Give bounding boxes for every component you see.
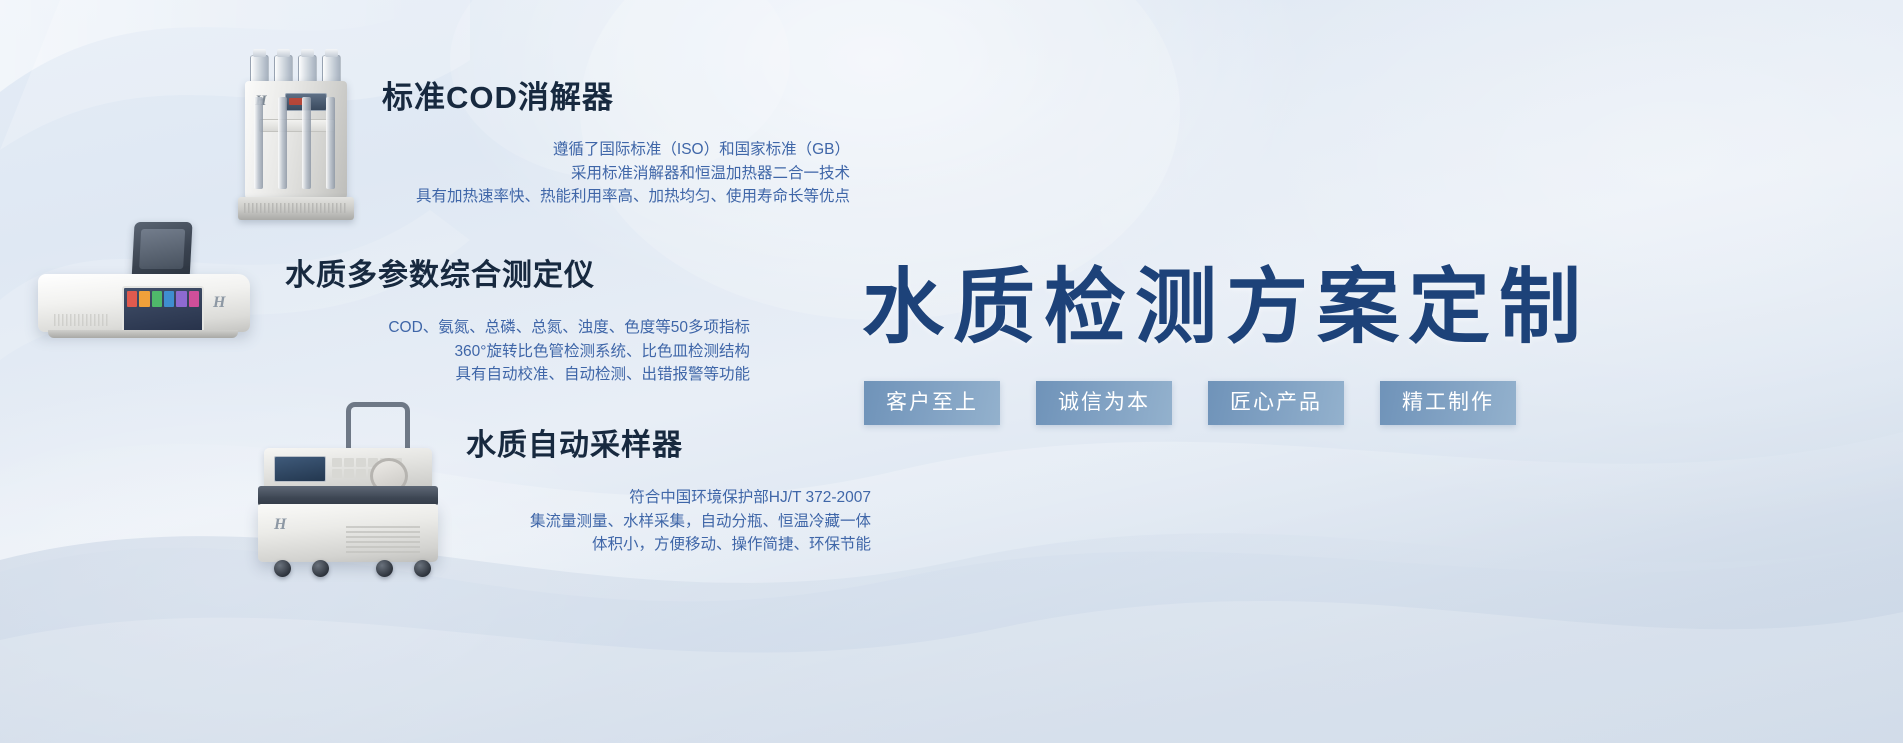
product-title: 水质多参数综合测定仪 bbox=[285, 250, 750, 294]
tag-list: 客户至上 诚信为本 匠心产品 精工制作 bbox=[864, 381, 1516, 425]
multiparameter-analyzer-photo: H bbox=[30, 222, 262, 344]
tag-fine-manufacturing[interactable]: 精工制作 bbox=[1380, 381, 1516, 425]
product-description-line: 符合中国环境保护部HJ/T 372-2007 bbox=[466, 486, 871, 510]
product-description-line: 集流量测量、水样采集，自动分瓶、恒温冷藏一体 bbox=[466, 510, 871, 534]
cod-digester-photo: H bbox=[228, 45, 362, 220]
product-block-auto-sampler: 水质自动采样器 符合中国环境保护部HJ/T 372-2007 集流量测量、水样采… bbox=[466, 420, 871, 557]
product-description-line: 具有加热速率快、热能利用率高、加热均匀、使用寿命长等优点 bbox=[382, 185, 850, 209]
sampler-display-icon bbox=[274, 456, 326, 482]
brand-mark-icon: H bbox=[213, 294, 225, 312]
auto-sampler-photo: H bbox=[250, 400, 450, 580]
product-title: 水质自动采样器 bbox=[466, 420, 871, 464]
product-description-line: 360°旋转比色管检测系统、比色皿检测结构 bbox=[285, 340, 750, 364]
tag-craftsmanship[interactable]: 匠心产品 bbox=[1208, 381, 1344, 425]
product-description: COD、氨氮、总磷、总氮、浊度、色度等50多项指标 360°旋转比色管检测系统、… bbox=[285, 316, 750, 387]
product-description-line: COD、氨氮、总磷、总氮、浊度、色度等50多项指标 bbox=[285, 316, 750, 340]
banner-headline: 水质检测方案定制 bbox=[862, 240, 1872, 359]
product-description: 符合中国环境保护部HJ/T 372-2007 集流量测量、水样采集，自动分瓶、恒… bbox=[466, 486, 871, 557]
tag-integrity[interactable]: 诚信为本 bbox=[1036, 381, 1172, 425]
product-description: 遵循了国际标准（ISO）和国家标准（GB） 采用标准消解器和恒温加热器二合一技术… bbox=[382, 138, 850, 209]
product-description-line: 遵循了国际标准（ISO）和国家标准（GB） bbox=[382, 138, 850, 162]
tag-customer-first[interactable]: 客户至上 bbox=[864, 381, 1000, 425]
product-description-line: 体积小，方便移动、操作简捷、环保节能 bbox=[466, 533, 871, 557]
product-description-line: 采用标准消解器和恒温加热器二合一技术 bbox=[382, 162, 850, 186]
product-block-multiparameter-analyzer: 水质多参数综合测定仪 COD、氨氮、总磷、总氮、浊度、色度等50多项指标 360… bbox=[285, 250, 750, 387]
promo-banner: H 标准COD消解器 遵循了国际标准（ISO）和国家标准（GB） 采用标准消解器… bbox=[0, 0, 1903, 743]
brand-mark-icon: H bbox=[274, 516, 286, 534]
product-block-cod-digester: 标准COD消解器 遵循了国际标准（ISO）和国家标准（GB） 采用标准消解器和恒… bbox=[382, 72, 850, 209]
product-title: 标准COD消解器 bbox=[382, 72, 850, 117]
product-description-line: 具有自动校准、自动检测、出错报警等功能 bbox=[285, 363, 750, 387]
